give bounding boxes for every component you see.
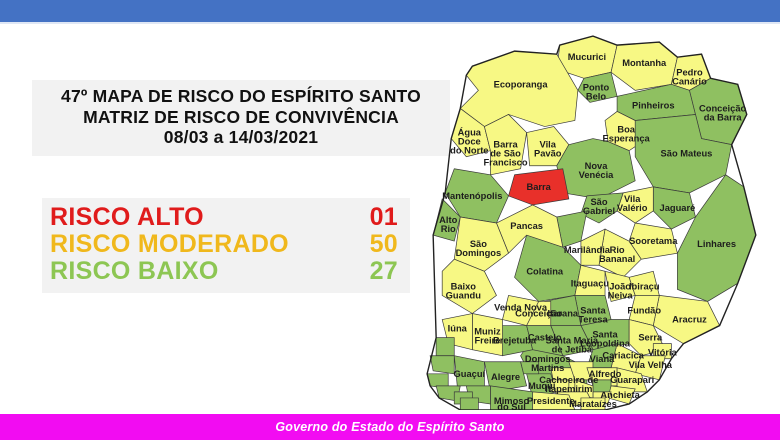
map-label: Teresa [578, 315, 608, 325]
legend-count-high: 01 [346, 204, 398, 231]
footer-banner: Governo do Estado do Espírito Santo [0, 414, 780, 440]
map-label: Vitória [648, 348, 678, 358]
map-label: Guarapari [610, 375, 654, 385]
map-label: Iúna [448, 324, 468, 334]
map-label: Venécia [579, 170, 615, 180]
top-decorative-bar [0, 0, 780, 22]
legend-row-low: RISCO BAIXO 27 [42, 258, 410, 285]
map-label: Domingos [456, 248, 502, 258]
title-block: 47º MAPA DE RISCO DO ESPÍRITO SANTO MATR… [32, 80, 450, 156]
legend-label-high: RISCO ALTO [50, 204, 204, 231]
map-label: Itaguaçu [571, 278, 610, 288]
map-label: Guandu [446, 290, 482, 300]
map-label: Esperança [603, 134, 651, 144]
legend-count-moderate: 50 [346, 231, 398, 258]
map-label: Alegre [491, 372, 520, 382]
map-label: Barra [527, 182, 552, 192]
map-label: São Mateus [661, 149, 713, 159]
map-label: Canário [672, 76, 707, 86]
map-svg: Mucurici Montanha Pedro Canário Ponto Be… [418, 24, 780, 410]
map-label: Freire [474, 336, 500, 346]
legend-row-high: RISCO ALTO 01 [42, 204, 410, 231]
map-label: Belo [586, 91, 607, 101]
title-line-2: MATRIZ DE RISCO DE CONVIVÊNCIA [32, 107, 450, 128]
map-label: Sooretama [629, 236, 678, 246]
map-label: Montanha [622, 58, 667, 68]
map-label: Viana [590, 354, 616, 364]
map-label: Pancas [510, 221, 543, 231]
map-label: Martins [531, 363, 564, 373]
map-label: Presidente [527, 396, 575, 406]
map-label: do Norte [450, 146, 488, 156]
map-label: Aracruz [672, 315, 707, 325]
map-label: Marilândia [564, 245, 611, 255]
map-label: Fundão [627, 305, 661, 315]
map-label: Colatina [526, 266, 564, 276]
map-label: Serra [638, 333, 663, 343]
map-label: Vila Velha [629, 360, 673, 370]
map-label: Marataízes [569, 399, 617, 409]
map-label: Mucurici [568, 52, 606, 62]
map-label: Castelo [528, 333, 562, 343]
muni-ibatiba [436, 338, 454, 356]
legend-label-low: RISCO BAIXO [50, 258, 219, 285]
risk-map-infographic: 47º MAPA DE RISCO DO ESPÍRITO SANTO MATR… [0, 0, 780, 440]
map-label: da Barra [704, 112, 743, 122]
map-label: Neiva [608, 290, 634, 300]
map-label: Ibiraçu [629, 281, 660, 291]
espirito-santo-map: Mucurici Montanha Pedro Canário Ponto Be… [418, 24, 780, 410]
map-label: do Sul [497, 402, 526, 410]
map-label: Linhares [697, 239, 736, 249]
map-label: Rio [441, 224, 456, 234]
map-label: Pavão [534, 149, 562, 159]
map-label: Ecoporanga [494, 79, 549, 89]
muni-irupi [430, 356, 454, 374]
map-label: Venda Nova [494, 302, 548, 312]
muni-sao-jose-do-calcado [460, 398, 478, 410]
map-label: Gabriel [583, 206, 615, 216]
legend-label-moderate: RISCO MODERADO [50, 231, 289, 258]
map-label: Francisco [483, 158, 527, 168]
map-label: Guaçuí [454, 369, 486, 379]
map-label: Bananal [599, 254, 635, 264]
map-label: Pinheiros [632, 100, 675, 110]
risk-legend: RISCO ALTO 01 RISCO MODERADO 50 RISCO BA… [42, 198, 410, 293]
title-line-1: 47º MAPA DE RISCO DO ESPÍRITO SANTO [32, 86, 450, 107]
footer-text: Governo do Estado do Espírito Santo [275, 420, 504, 434]
legend-row-moderate: RISCO MODERADO 50 [42, 231, 410, 258]
map-label: Itapemirim [545, 384, 592, 394]
title-line-3: 08/03 a 14/03/2021 [32, 127, 450, 148]
map-label: Mantenópolis [442, 191, 502, 201]
map-label: Valério [617, 203, 648, 213]
legend-count-low: 27 [346, 258, 398, 285]
map-label: Jaguaré [660, 203, 696, 213]
